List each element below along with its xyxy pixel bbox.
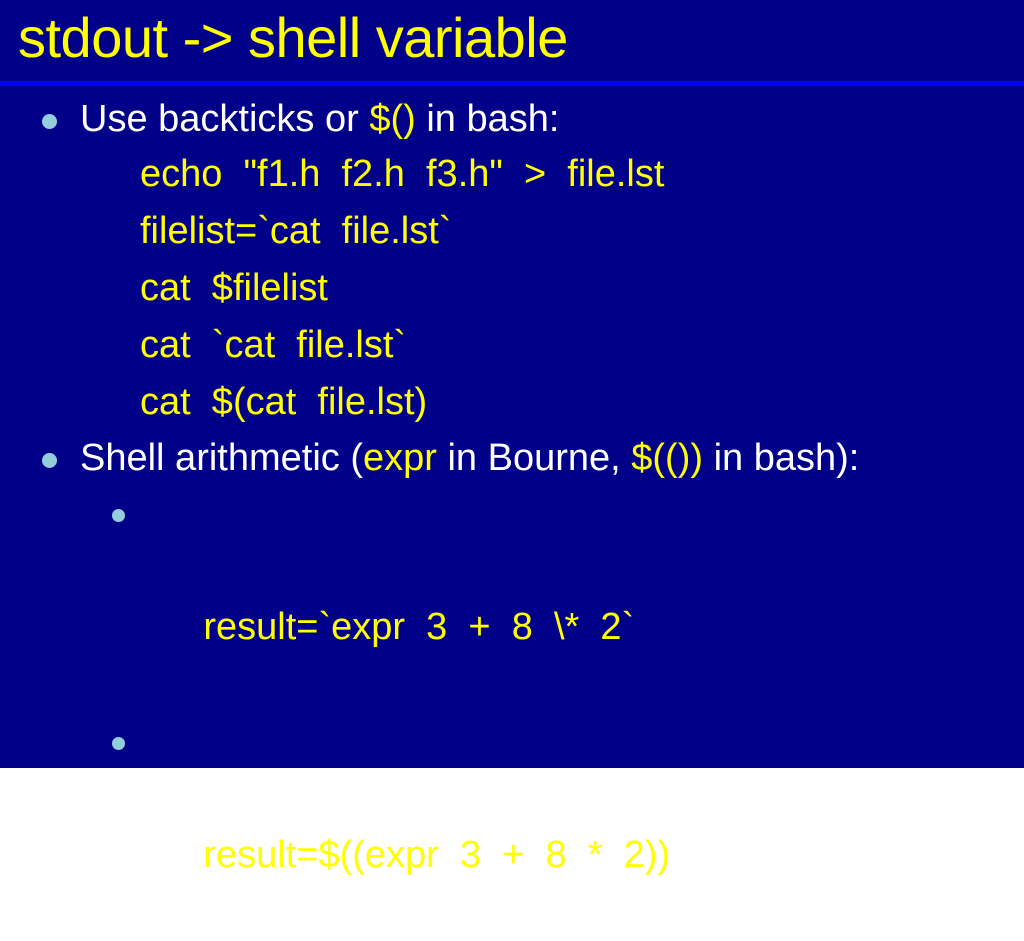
slide-title-area: stdout -> shell variable xyxy=(0,0,1024,86)
bullet-text-segment: in bash: xyxy=(416,98,560,140)
sub-bullet-item-label: result=`expr 3 + 8 \* 2` xyxy=(203,606,634,648)
bullet-text-segment-highlight: expr xyxy=(363,437,437,479)
bullet-item: Shell arithmetic (expr in Bourne, $(()) … xyxy=(0,431,1024,485)
bullet-item: Use backticks or $() in bash: xyxy=(0,92,1024,146)
page-title: stdout -> shell variable xyxy=(18,2,568,74)
bullet-dot-icon xyxy=(112,509,125,522)
bullet-text-segment-highlight: $() xyxy=(369,98,415,140)
slide-canvas: stdout -> shell variable Use backticks o… xyxy=(0,0,1024,768)
title-divider xyxy=(0,81,1024,86)
bullet-text-segment-highlight: $(()) xyxy=(631,437,703,479)
code-line: cat $filelist xyxy=(0,260,1024,317)
sub-bullet-item-label: result=$((expr 3 + 8 * 2)) xyxy=(203,834,670,876)
sub-bullet-item: result=`expr 3 + 8 \* 2` xyxy=(0,485,1024,713)
sub-bullet-item: result=$((expr 3 + 8 * 2)) xyxy=(0,713,1024,941)
bullet-item-label: Use backticks or $() in bash: xyxy=(80,92,1024,146)
code-line: cat $(cat file.lst) xyxy=(0,374,1024,431)
bullet-dot-icon xyxy=(42,114,57,129)
bullet-text-segment: Use backticks or xyxy=(80,98,369,140)
bullet-item-label: Shell arithmetic (expr in Bourne, $(()) … xyxy=(80,431,1024,485)
bullet-text-segment: in Bourne, xyxy=(437,437,631,479)
code-line: filelist=`cat file.lst` xyxy=(0,203,1024,260)
bullet-text-segment: in bash): xyxy=(703,437,859,479)
bullet-dot-icon xyxy=(42,453,57,468)
code-line: echo "f1.h f2.h f3.h" > file.lst xyxy=(0,146,1024,203)
bullet-text-segment: Shell arithmetic ( xyxy=(80,437,363,479)
slide-body: Use backticks or $() in bash: echo "f1.h… xyxy=(0,92,1024,941)
bullet-dot-icon xyxy=(112,737,125,750)
code-line: cat `cat file.lst` xyxy=(0,317,1024,374)
